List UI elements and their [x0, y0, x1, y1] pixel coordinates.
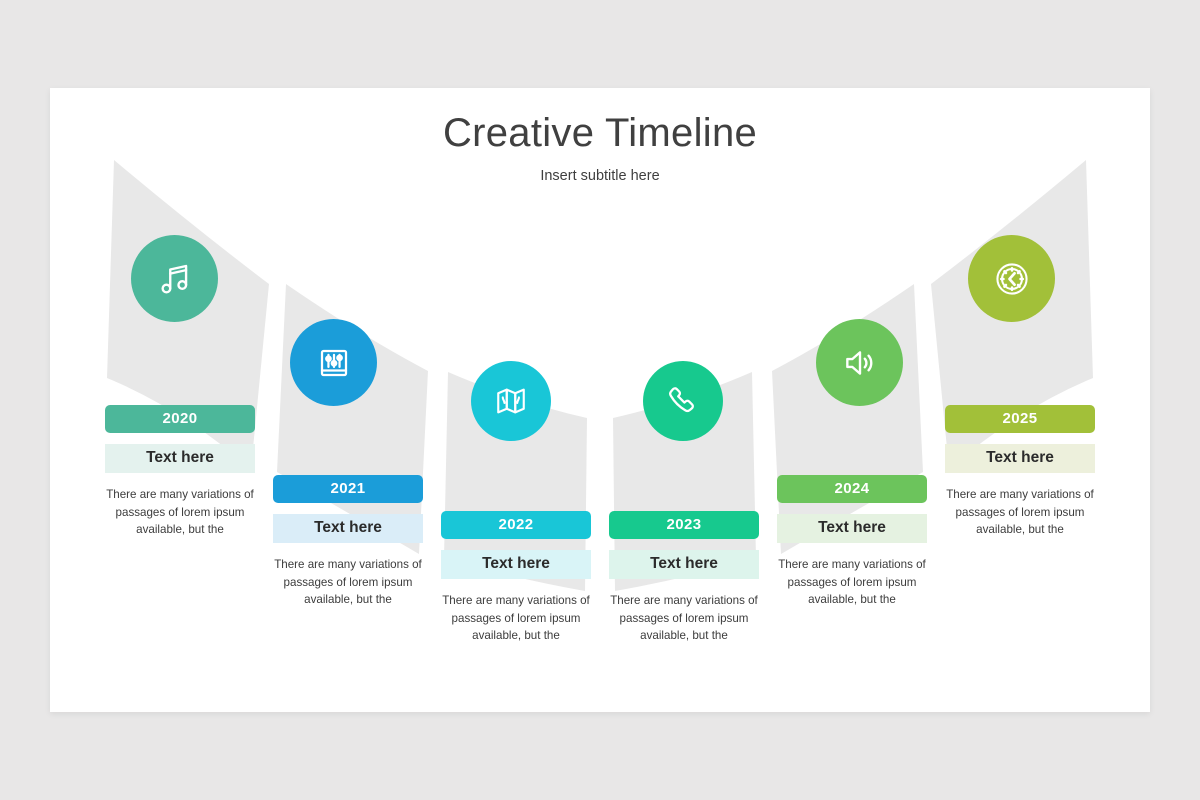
- icon-circle-2021[interactable]: [290, 319, 377, 406]
- timeline-item-2023: 2023 Text here There are many variations…: [609, 511, 759, 645]
- year-badge-2020[interactable]: 2020: [105, 405, 255, 433]
- timeline-item-2022: 2022 Text here There are many variations…: [441, 511, 591, 645]
- subtitle-bar-2021[interactable]: Text here: [273, 514, 423, 543]
- body-text-2024: There are many variations of passages of…: [777, 556, 927, 609]
- page-subtitle: Insert subtitle here: [50, 156, 1150, 184]
- body-text-2022: There are many variations of passages of…: [441, 592, 591, 645]
- year-badge-2022[interactable]: 2022: [441, 511, 591, 539]
- icon-circle-2025[interactable]: [968, 235, 1055, 322]
- subtitle-bar-2025[interactable]: Text here: [945, 444, 1095, 473]
- subtitle-bar-2020[interactable]: Text here: [105, 444, 255, 473]
- icon-circle-2020[interactable]: [131, 235, 218, 322]
- body-text-2025: There are many variations of passages of…: [945, 486, 1095, 539]
- page-title: Creative Timeline: [50, 88, 1150, 156]
- subtitle-bar-2022[interactable]: Text here: [441, 550, 591, 579]
- map-icon: [494, 384, 528, 418]
- slide-header: Creative Timeline Insert subtitle here: [50, 88, 1150, 184]
- year-badge-2025[interactable]: 2025: [945, 405, 1095, 433]
- timeline-item-2025: 2025 Text here There are many variations…: [945, 405, 1095, 539]
- icon-circle-2023[interactable]: [643, 361, 723, 441]
- year-badge-2021[interactable]: 2021: [273, 475, 423, 503]
- icon-circle-2024[interactable]: [816, 319, 903, 406]
- timeline-item-2021: 2021 Text here There are many variations…: [273, 475, 423, 609]
- timeline-item-2020: 2020 Text here There are many variations…: [105, 405, 255, 539]
- body-text-2021: There are many variations of passages of…: [273, 556, 423, 609]
- year-badge-2024[interactable]: 2024: [777, 475, 927, 503]
- speaker-icon: [841, 344, 879, 382]
- equalizer-icon: [316, 345, 352, 381]
- music-note-icon: [156, 260, 194, 298]
- body-text-2020: There are many variations of passages of…: [105, 486, 255, 539]
- phone-icon: [666, 384, 700, 418]
- slide-canvas: Creative Timeline Insert subtitle here: [50, 88, 1150, 712]
- timeline-item-2024: 2024 Text here There are many variations…: [777, 475, 927, 609]
- icon-circle-2022[interactable]: [471, 361, 551, 441]
- year-badge-2023[interactable]: 2023: [609, 511, 759, 539]
- subtitle-bar-2023[interactable]: Text here: [609, 550, 759, 579]
- body-text-2023: There are many variations of passages of…: [609, 592, 759, 645]
- clock-gear-icon: [993, 260, 1031, 298]
- subtitle-bar-2024[interactable]: Text here: [777, 514, 927, 543]
